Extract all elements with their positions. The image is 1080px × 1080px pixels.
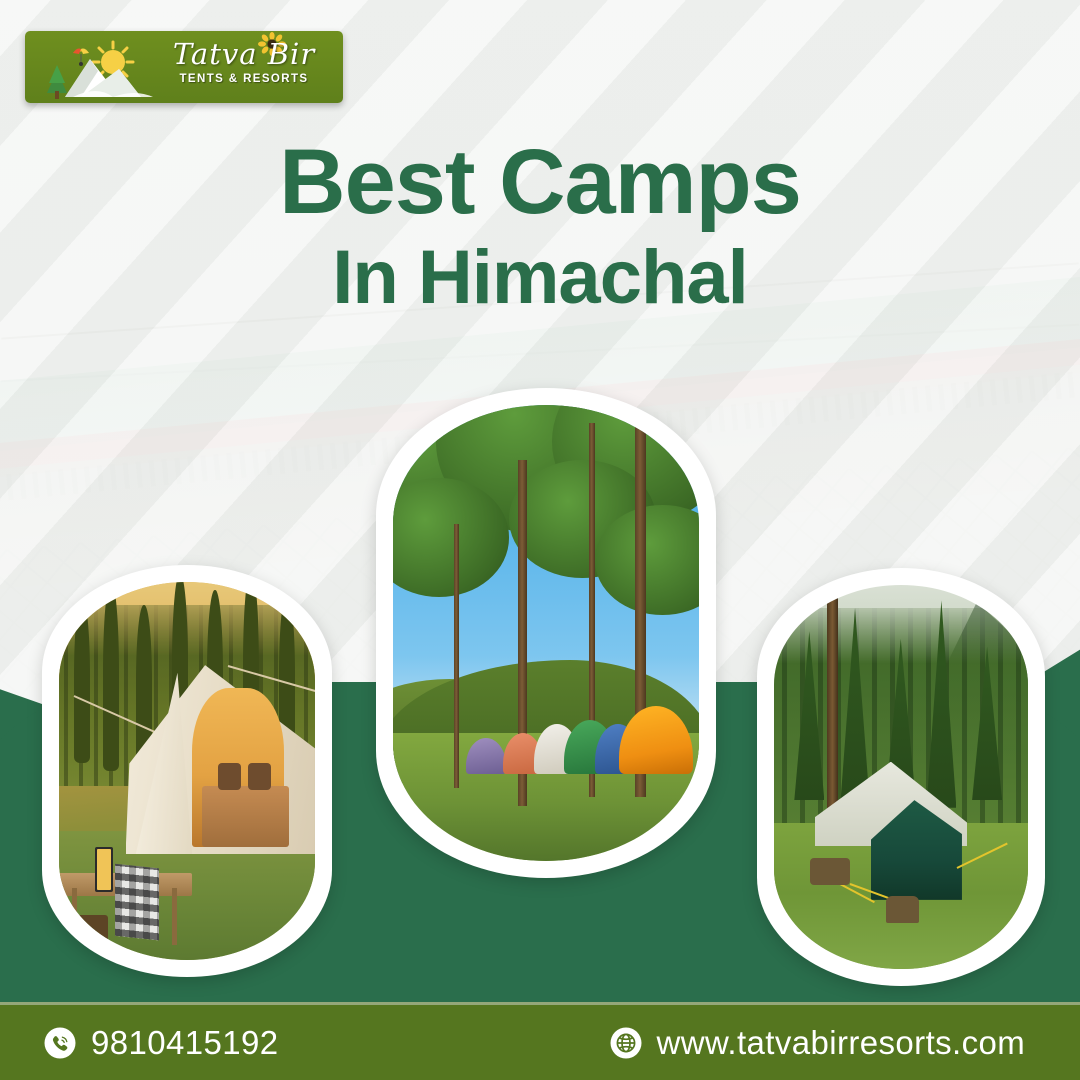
glamping-tent-photo [59,582,315,960]
gallery-image-right[interactable] [757,568,1045,986]
page-title: Best Camps In Himachal [0,132,1080,324]
brand-logo[interactable]: Tatva Bir TENTS & RESORTS [25,31,343,103]
gallery-image-center-inner [393,405,699,861]
website-url: www.tatvabirresorts.com [657,1024,1026,1062]
website-contact[interactable]: www.tatvabirresorts.com [609,1024,1026,1062]
safari-tent-photo [774,585,1028,969]
pine-forest-campsite-photo [393,405,699,861]
gallery-image-left-inner [59,582,315,960]
contact-footer: 9810415192 www.tatvabirresorts.com [0,1002,1080,1080]
gallery-image-right-inner [774,585,1028,969]
gallery-image-left[interactable] [42,565,332,977]
logo-text: Tatva Bir TENTS & RESORTS [159,37,329,85]
phone-contact[interactable]: 9810415192 [43,1024,279,1062]
phone-number: 9810415192 [91,1024,279,1062]
logo-name: Tatva Bir [159,37,329,71]
logo-tagline: TENTS & RESORTS [159,73,329,85]
poster-canvas: Tatva Bir TENTS & RESORTS Best Camps In … [0,0,1080,1080]
globe-icon [609,1026,643,1060]
headline-line-1: Best Camps [0,132,1080,232]
headline-line-2: In Himachal [0,232,1080,324]
phone-icon [43,1026,77,1060]
gallery-image-center[interactable] [376,388,716,878]
